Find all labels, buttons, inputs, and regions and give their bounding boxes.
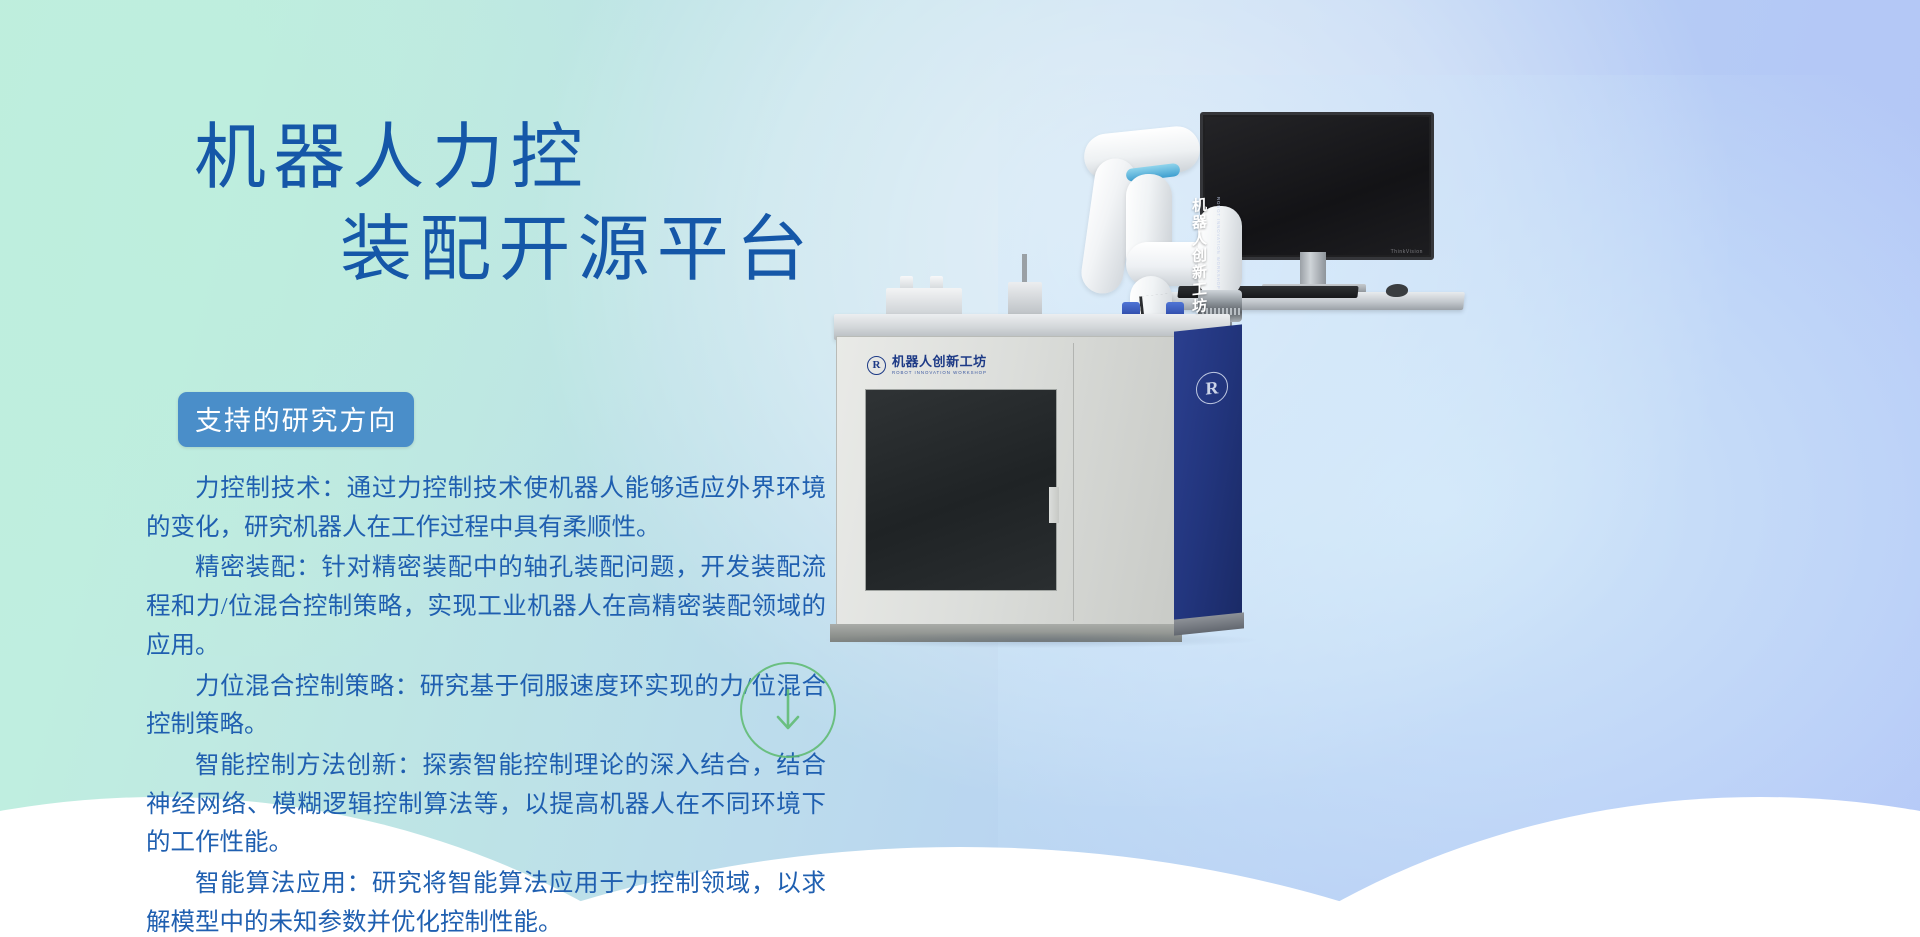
title-line-2: 装配开源平台 [340,204,870,296]
cabinet-floor-shadow [826,632,1256,648]
cabinet-logo-text: 机器人创新工坊 [892,355,987,368]
title-line-1: 机器人力控 [194,112,870,204]
control-cabinet: R 机器人创新工坊 ROBOT INNOVATION WORKSHOP [836,336,1178,628]
cabinet-side-panel [1174,324,1242,623]
hero-banner: 机器人力控 装配开源平台 支持的研究方向 力控制技术：通过力控制技术使机器人能够… [0,0,1920,937]
cabinet-door-notch [1049,487,1059,523]
research-item-force-control: 力控制技术：通过力控制技术使机器人能够适应外界环境的变化，研究机器人在工作过程中… [146,470,826,547]
page-title: 机器人力控 装配开源平台 [130,112,870,296]
cabinet-side-text: 机器人创新工坊 [1190,197,1205,316]
monitor-neck [1300,252,1326,286]
cabinet-logo-subtext: ROBOT INNOVATION WORKSHOP [892,370,987,375]
research-item-precision-assembly: 精密装配：针对精密装配中的轴孔装配问题，开发装配流程和力/位混合控制策略，实现工… [146,549,826,665]
cabinet-side-subtext: ROBOT INNOVATION WORKSHOP [1216,197,1221,290]
arrow-down-icon [771,684,805,736]
assembly-fixture-center [1008,282,1042,318]
cabinet-side-branding: 机器人创新工坊 ROBOT INNOVATION WORKSHOP [1190,194,1230,348]
research-directions-badge: 支持的研究方向 [178,392,414,447]
cabinet-logo-mark-icon: R [867,356,886,375]
robot-workstation-photo: Lenovo ThinkVision [826,96,1486,656]
cabinet-window-panel [865,389,1057,591]
monitor-brand-right-label: ThinkVision [1391,249,1423,255]
research-item-intelligent-control: 智能控制方法创新：探索智能控制理论的深入结合，结合神经网络、模糊逻辑控制算法等，… [146,747,826,863]
research-item-algorithm-application: 智能算法应用：研究将智能算法应用于力控制领域，以求解模型中的未知参数并优化控制性… [146,865,826,937]
research-item-hybrid-strategy: 力位混合控制策略：研究基于伺服速度环实现的力/位混合控制策略。 [146,668,826,745]
research-directions-list: 力控制技术：通过力控制技术使机器人能够适应外界环境的变化，研究机器人在工作过程中… [146,470,826,937]
hero-copy-column: 机器人力控 装配开源平台 支持的研究方向 力控制技术：通过力控制技术使机器人能够… [0,0,880,937]
scroll-down-button[interactable] [740,662,836,758]
cabinet-panel-seam [1073,343,1074,621]
cabinet-logo: R 机器人创新工坊 ROBOT INNOVATION WORKSHOP [867,355,987,375]
